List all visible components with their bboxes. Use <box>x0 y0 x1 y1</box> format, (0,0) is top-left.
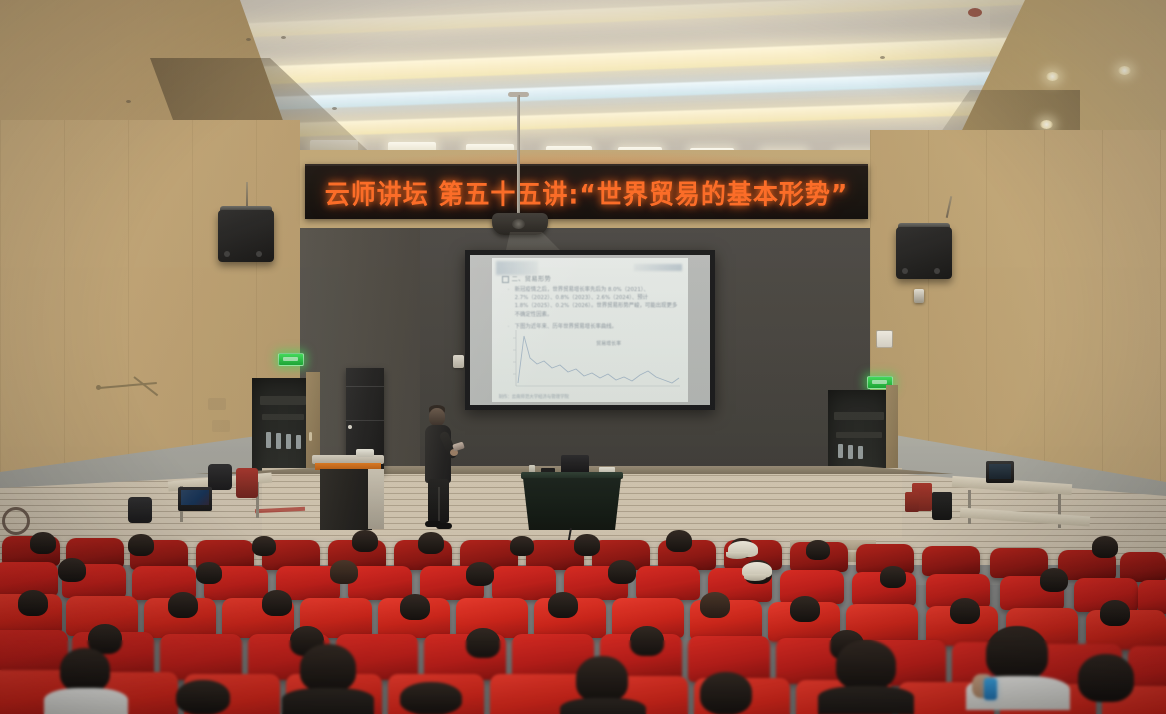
audience-shoulder <box>818 686 914 714</box>
audience-cap-brim-2 <box>744 574 766 581</box>
audience-head <box>836 640 896 690</box>
audience-head <box>1092 536 1118 558</box>
seat <box>1138 580 1166 614</box>
audience-shoulder <box>282 688 374 714</box>
slide-footer: 制作：云南师范大学经济与管理学院 <box>499 394 683 400</box>
screen-sensor-icon <box>453 355 464 368</box>
lectern-body <box>320 469 372 530</box>
presentation-table <box>521 472 623 530</box>
audience-head <box>466 562 494 586</box>
chair-left <box>208 464 232 490</box>
projector-lens-icon <box>512 219 525 229</box>
screen-surface: 二、贸易形势 新冠疫情之后，世界贸易增长率先后为 8.0%（2021）、2.7%… <box>470 255 710 405</box>
presenter-leg-gap <box>438 487 440 521</box>
audience-head <box>630 626 664 656</box>
rack-line <box>346 386 384 387</box>
slide-bullet-item: 新冠疫情之后，世界贸易增长率先后为 8.0%（2021）、2.7%（2022）、… <box>508 286 681 319</box>
audience-head <box>330 560 358 584</box>
ceiling-speck <box>332 107 337 110</box>
corridor-beam <box>260 396 306 405</box>
corridor-beam <box>836 432 882 438</box>
smartphone <box>984 678 997 700</box>
wall-plate-left-2 <box>212 420 230 432</box>
slide-chart: 贸易增长率 <box>504 328 682 390</box>
audience-head <box>700 672 752 714</box>
audience-head <box>1078 654 1134 702</box>
corridor-light <box>266 432 271 448</box>
presentation-slide: 二、贸易形势 新冠疫情之后，世界贸易增长率先后为 8.0%（2021）、2.7%… <box>492 258 689 402</box>
fire-extinguisher-box-2 <box>905 492 919 512</box>
downlight-icon <box>1040 120 1053 129</box>
table-skirt <box>523 478 621 530</box>
wall-speaker-left <box>218 210 274 262</box>
table-top <box>521 472 623 479</box>
audience-head <box>418 532 444 554</box>
rack-line <box>346 420 384 421</box>
exit-sign-left <box>278 353 304 366</box>
rack-indicator-icon <box>348 425 352 429</box>
corridor-beam <box>262 414 304 420</box>
corridor-light <box>296 435 301 449</box>
audience-head <box>510 536 534 556</box>
audience-head <box>60 648 110 692</box>
lectern <box>312 455 384 530</box>
presenter-shoe <box>436 523 452 529</box>
slide-chart-svg <box>504 328 682 390</box>
auditorium-photo: 云师讲坛 第五十五讲:“世界贸易的基本形势” 二、贸易形势 新冠疫情之后，世界贸… <box>0 0 1166 714</box>
audience-head <box>700 592 730 618</box>
corridor-light <box>286 434 291 449</box>
wall-control-panel-right <box>876 330 893 348</box>
projector-pole <box>517 95 520 215</box>
door-handle-left[interactable] <box>309 432 312 441</box>
audience-head <box>196 562 222 584</box>
audience-shoulder <box>560 698 646 714</box>
speaker-wire-left <box>246 182 248 208</box>
corridor-light <box>858 446 863 459</box>
audience-head <box>400 682 462 714</box>
smoke-detector-icon <box>968 8 982 17</box>
led-banner: 云师讲坛 第五十五讲:“世界贸易的基本形势” <box>305 164 868 219</box>
trash-bin <box>932 492 952 520</box>
lectern-side-panel <box>368 469 384 529</box>
audience-head <box>252 536 276 556</box>
audience-head <box>608 560 636 584</box>
wall-plate-left <box>208 398 226 410</box>
red-cart-left <box>236 468 258 498</box>
audience-head <box>30 532 56 554</box>
presenter-head <box>429 408 445 426</box>
seat <box>990 548 1048 578</box>
ceiling-speck <box>246 38 251 41</box>
wall-speaker-right <box>896 227 952 279</box>
audience-head <box>58 558 86 582</box>
monitor-right-screen <box>989 464 1011 479</box>
slide-chart-label: 贸易增长率 <box>596 340 621 347</box>
control-laptop <box>178 487 212 511</box>
slide-title: 二、贸易形势 <box>502 274 552 283</box>
audience-head <box>176 680 230 714</box>
audience-head <box>666 530 692 552</box>
slide-title-bullet-icon <box>502 276 509 283</box>
downlight-icon <box>1046 72 1059 81</box>
audience-head <box>400 594 430 620</box>
audience-head <box>1100 600 1130 626</box>
bicycle-wheel <box>2 507 30 535</box>
ceiling-speck <box>126 100 131 103</box>
led-banner-text: 云师讲坛 第五十五讲:“世界贸易的基本形势” <box>325 173 849 211</box>
slide-decoration-right <box>634 264 682 271</box>
audience-head <box>300 644 356 692</box>
audience-head <box>574 534 600 556</box>
chair-left-2 <box>128 497 152 523</box>
ceiling-speck <box>281 36 286 39</box>
corridor-light <box>276 433 281 449</box>
control-laptop-screen <box>181 490 209 505</box>
projection-screen: 二、贸易形势 新冠疫情之后，世界贸易增长率先后为 8.0%（2021）、2.7%… <box>465 250 715 410</box>
table-leg <box>968 490 971 524</box>
audience-head <box>168 592 198 618</box>
corridor-light <box>848 445 853 459</box>
corridor-beam <box>834 412 884 420</box>
audience-head <box>548 592 578 618</box>
downlight-icon <box>1118 66 1131 75</box>
audience-head <box>576 656 628 702</box>
audience-head <box>790 596 820 622</box>
presenter <box>420 405 460 530</box>
audience-head <box>466 628 500 658</box>
slide-decoration-left <box>496 261 538 275</box>
bicycle-left <box>0 495 36 531</box>
lectern-monitor <box>356 449 374 457</box>
audience-head <box>1040 568 1068 592</box>
seat <box>492 566 556 600</box>
audience-head <box>880 566 906 588</box>
camera-icon-right <box>914 289 924 303</box>
audience-cap-brim <box>726 552 748 559</box>
audience-head <box>128 534 154 556</box>
corridor-light <box>838 444 843 458</box>
audience-head <box>950 598 980 624</box>
audience-head <box>352 530 378 552</box>
seat <box>922 546 980 576</box>
seat <box>636 566 700 600</box>
audience-head <box>986 626 1048 680</box>
audience-head <box>18 590 48 616</box>
monitor-right <box>986 461 1014 483</box>
audience-shoulder <box>44 688 128 714</box>
audience-head <box>806 540 830 560</box>
audience-head <box>262 590 292 616</box>
ceiling-speck <box>880 56 885 59</box>
